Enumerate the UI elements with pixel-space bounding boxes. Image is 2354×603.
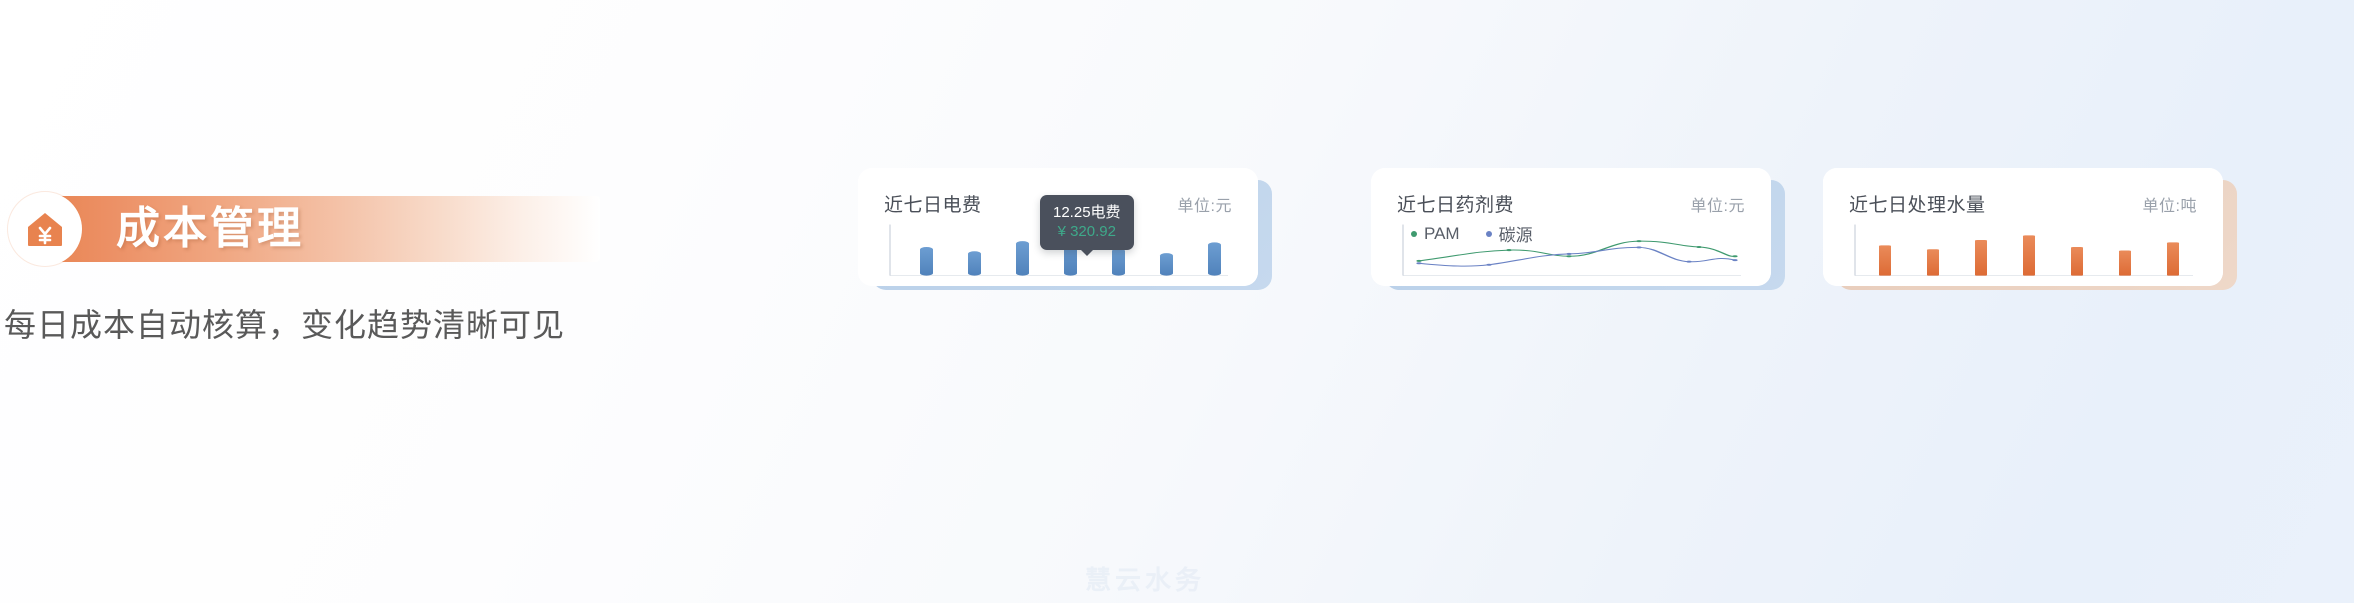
legend-dot-carbon bbox=[1486, 231, 1492, 237]
line-chart-chemicals[interactable]: PAM 碳源 bbox=[1397, 223, 1745, 281]
watermark: 慧云水务 bbox=[1085, 560, 1205, 597]
card-title-water: 近七日处理水量 bbox=[1849, 190, 1986, 217]
card-title-chemicals: 近七日药剂费 bbox=[1397, 190, 1514, 217]
card-title-electricity: 近七日电费 bbox=[884, 190, 982, 217]
card-header-chemicals: 近七日药剂费 单位:元 bbox=[1397, 190, 1745, 217]
card-header-water: 近七日处理水量 单位:吨 bbox=[1849, 190, 2197, 217]
legend-item-pam[interactable]: PAM bbox=[1411, 221, 1460, 246]
hero-text-block: 成本管理 每日成本自动核算，变化趋势清晰可见 bbox=[0, 190, 620, 346]
card-water[interactable]: 近七日处理水量 单位:吨 bbox=[1823, 168, 2223, 286]
chart-legend-chemicals: PAM 碳源 bbox=[1411, 221, 1533, 246]
chart-tooltip-electricity: 12.25电费 ¥ 320.92 bbox=[1040, 195, 1134, 250]
page-title: 成本管理 bbox=[116, 190, 304, 268]
legend-label-pam: PAM bbox=[1424, 224, 1460, 244]
house-yen-icon bbox=[8, 192, 82, 266]
legend-label-carbon: 碳源 bbox=[1499, 221, 1533, 246]
card-electricity[interactable]: 近七日电费 单位:元 bbox=[858, 168, 1258, 286]
card-unit-chemicals: 单位:元 bbox=[1691, 192, 1745, 216]
tooltip-label: 12.25电费 bbox=[1053, 203, 1121, 222]
tooltip-value: ¥ 320.92 bbox=[1053, 222, 1121, 241]
bar-chart-water[interactable] bbox=[1849, 223, 2197, 281]
card-unit-electricity: 单位:元 bbox=[1178, 192, 1232, 216]
legend-dot-pam bbox=[1411, 231, 1417, 237]
page-subtitle: 每日成本自动核算，变化趋势清晰可见 bbox=[4, 300, 620, 346]
legend-item-carbon[interactable]: 碳源 bbox=[1486, 221, 1533, 246]
bar-chart-electricity[interactable]: 12.25电费 ¥ 320.92 bbox=[884, 223, 1232, 281]
title-banner: 成本管理 bbox=[0, 190, 600, 268]
card-chemicals[interactable]: 近七日药剂费 单位:元 PAM 碳源 bbox=[1371, 168, 1771, 286]
tooltip-arrow bbox=[1081, 250, 1093, 256]
card-unit-water: 单位:吨 bbox=[2143, 192, 2197, 216]
